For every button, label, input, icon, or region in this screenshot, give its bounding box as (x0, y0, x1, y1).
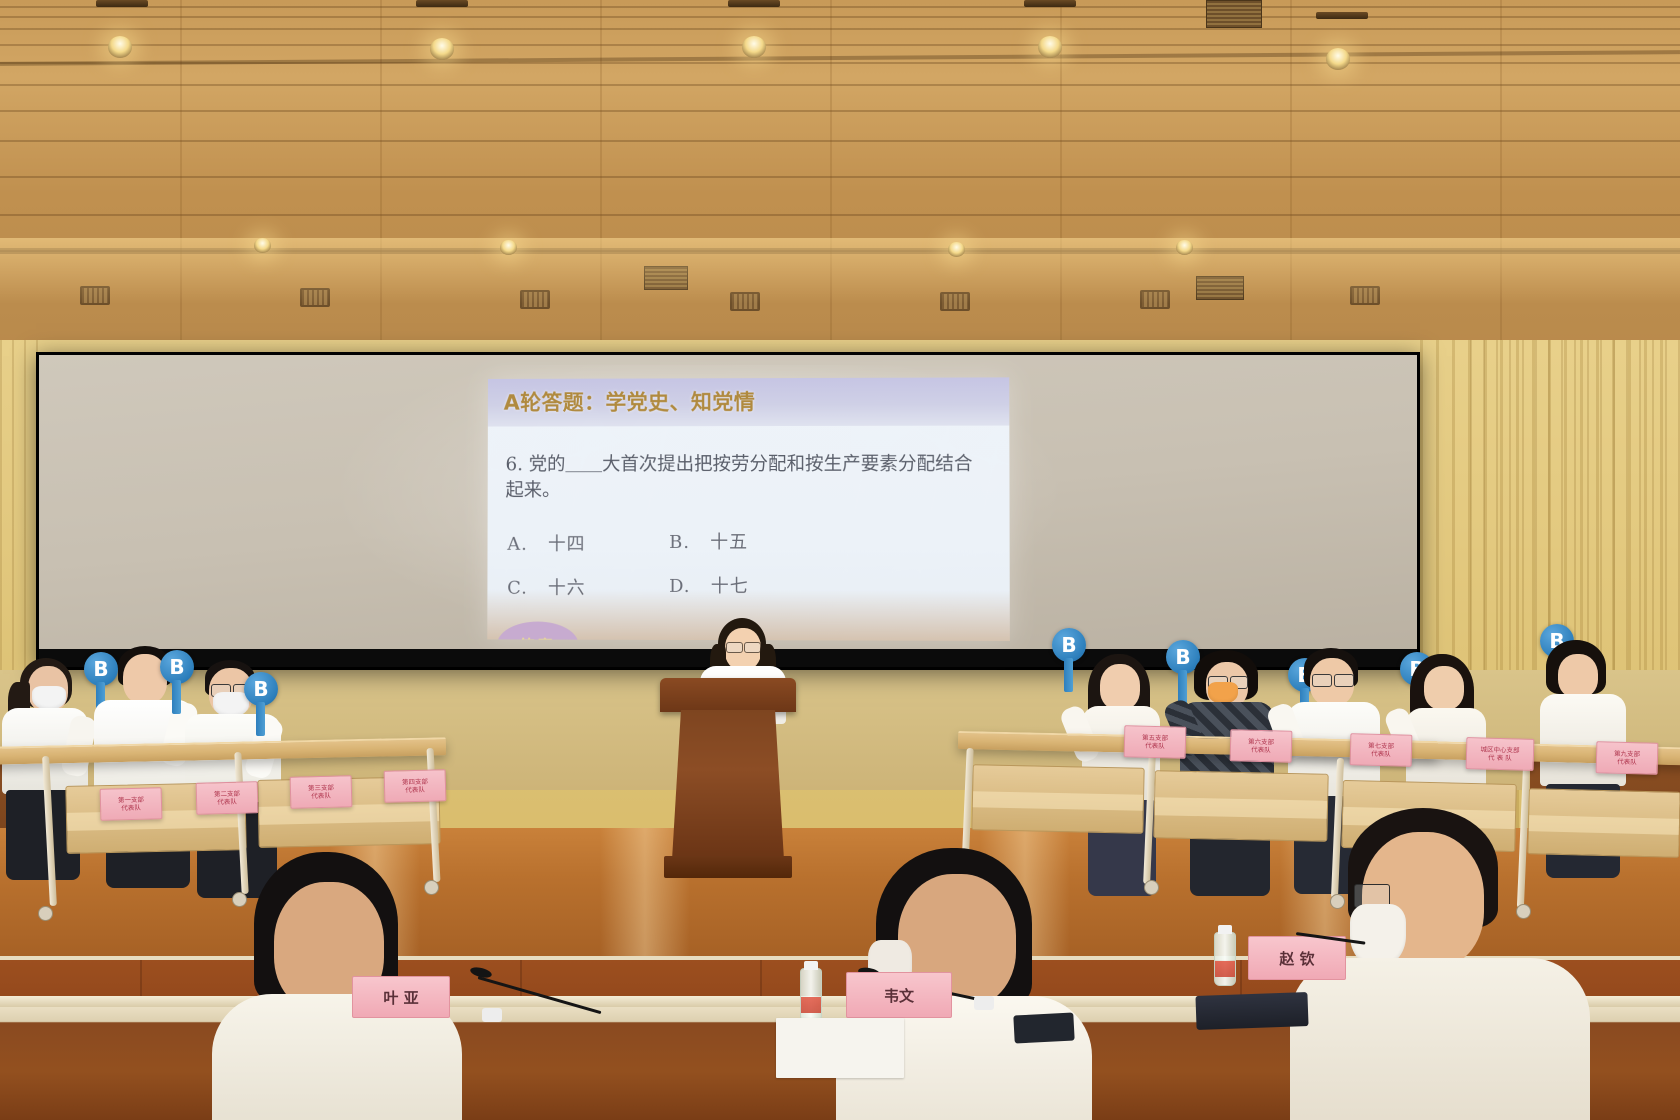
placard-line-2: 代 表 队 (1488, 754, 1512, 763)
judge-name-card: 叶 亚 (352, 976, 450, 1018)
presentation-slide: A轮答题：学党史、知党情 6. 党的＿＿大首次提出把按劳分配和按生产要素分配结合… (487, 377, 1010, 641)
team-placard: 第九支部 代表队 (1596, 741, 1659, 775)
team-placard: 第三支部 代表队 (290, 775, 353, 809)
slide-question: 6. 党的＿＿大首次提出把按劳分配和按生产要素分配结合起来。 (505, 452, 991, 503)
table-skirt (1153, 770, 1328, 842)
stage-light (1038, 36, 1062, 58)
placard-line-2: 代表队 (121, 804, 141, 813)
option-a-text: 十四 (548, 534, 586, 555)
placard-line-2: 代表队 (405, 786, 425, 795)
ceiling (0, 0, 1680, 352)
slide-title: A轮答题：学党史、知党情 (504, 386, 756, 416)
stage-light (430, 38, 454, 60)
option-b-text: 十五 (710, 532, 748, 553)
placard-line-2: 代表队 (217, 798, 237, 807)
placard-line-2: 代表队 (1371, 750, 1391, 759)
placard-line-2: 代表队 (1145, 742, 1165, 751)
team-placard: 第四支部 代表队 (384, 769, 447, 803)
option-b-key: B. (669, 532, 690, 553)
placard-line-2: 代表队 (1617, 758, 1637, 767)
judge-name-card: 韦文 (846, 972, 952, 1018)
stage-light (742, 36, 766, 58)
water-bottle (800, 968, 822, 1022)
placard-line-2: 代表队 (311, 792, 331, 801)
judge-name: 叶 亚 (383, 987, 418, 1008)
notebook (1195, 992, 1308, 1030)
table-skirt (1527, 788, 1680, 858)
stage-light (108, 36, 132, 58)
table-skirt (971, 764, 1144, 834)
paddle-letter: B (1052, 628, 1086, 662)
mobile-phone (1013, 1012, 1074, 1043)
water-bottle (1214, 932, 1236, 986)
team-placard: 第六支部 代表队 (1230, 729, 1293, 763)
slide-option-a: A. 十四 (507, 530, 585, 556)
team-placard: 第七支部 代表队 (1350, 733, 1413, 767)
placard-line-2: 代表队 (1251, 746, 1271, 755)
team-placard: 第二支部 代表队 (196, 781, 259, 815)
auditorium-scene: A轮答题：学党史、知党情 6. 党的＿＿大首次提出把按劳分配和按生产要素分配结合… (0, 0, 1680, 1120)
team-placard: 城区中心支部 代 表 队 (1466, 737, 1535, 771)
document-sheet (776, 1018, 904, 1078)
judge-name: 赵 钦 (1279, 948, 1314, 969)
option-a-key: A. (507, 534, 528, 555)
judge-name-card: 赵 钦 (1248, 936, 1346, 980)
team-placard: 第一支部 代表队 (100, 787, 163, 821)
team-placard: 第五支部 代表队 (1124, 725, 1187, 759)
paddle-letter: B (160, 650, 194, 684)
stage-light (1326, 48, 1350, 70)
podium (660, 678, 796, 890)
paddle-letter: B (244, 672, 278, 706)
judge-name: 韦文 (884, 985, 914, 1006)
slide-option-b: B. 十五 (669, 528, 748, 554)
paddle-letter: B (84, 652, 118, 686)
